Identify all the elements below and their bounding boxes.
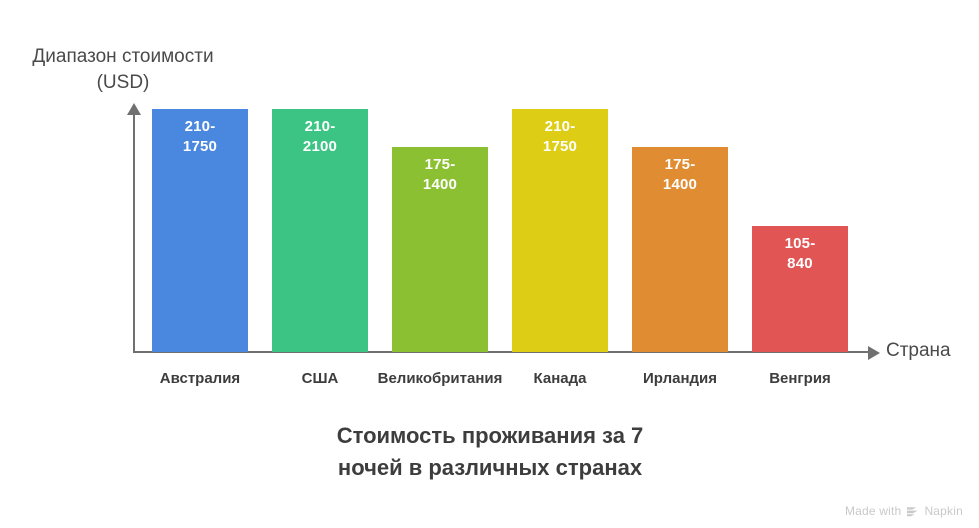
napkin-watermark: Made with Napkin	[845, 504, 963, 518]
bar-value-label: 175- 1400	[392, 155, 488, 195]
watermark-brand: Napkin	[924, 504, 963, 518]
bar-4[interactable]: 210- 1750	[512, 109, 608, 352]
bar-value-label: 210- 1750	[512, 117, 608, 157]
bar-value-label: 210- 1750	[152, 117, 248, 157]
bar-5[interactable]: 175- 1400	[632, 147, 728, 352]
bar-value-label: 105- 840	[752, 234, 848, 274]
watermark-prefix: Made with	[845, 504, 902, 518]
x-axis-category-label: Венгрия	[725, 370, 875, 387]
bar-3[interactable]: 175- 1400	[392, 147, 488, 352]
bar-2[interactable]: 210- 2100	[272, 109, 368, 352]
bar-6[interactable]: 105- 840	[752, 226, 848, 352]
chart-title: Стоимость проживания за 7 ночей в различ…	[240, 420, 740, 484]
bar-value-label: 175- 1400	[632, 155, 728, 195]
bar-value-label: 210- 2100	[272, 117, 368, 157]
napkin-logo-icon	[906, 505, 919, 518]
bar-1[interactable]: 210- 1750	[152, 109, 248, 352]
bar-chart: Диапазон стоимости (USD) Страна 210- 175…	[0, 0, 979, 528]
